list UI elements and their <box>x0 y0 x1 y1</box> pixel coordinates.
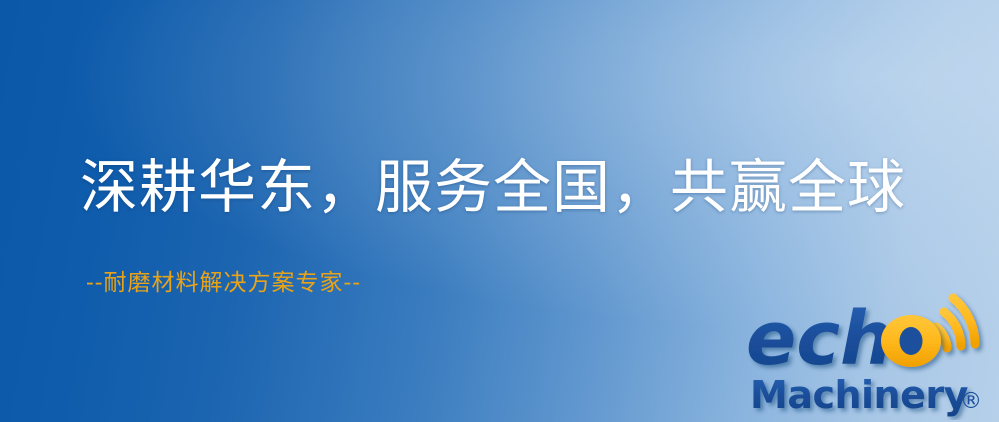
registered-trademark-icon: ® <box>960 389 982 414</box>
logo-tagline: Machinery <box>750 373 969 417</box>
logo-o-counter <box>900 327 923 355</box>
logo-artwork: ech Machinery ® <box>744 292 994 420</box>
subheadline-text: --耐磨材料解决方案专家-- <box>86 268 361 298</box>
logo-wordmark-ech: ech <box>746 296 893 382</box>
echo-machinery-logo: ech Machinery ® <box>744 292 994 420</box>
signal-waves-icon <box>936 298 975 348</box>
logo-wordmark-o <box>881 315 941 367</box>
headline-text: 深耕华东，服务全国，共赢全球 <box>80 152 906 222</box>
hero-banner: 深耕华东，服务全国，共赢全球 --耐磨材料解决方案专家-- <box>0 0 999 422</box>
